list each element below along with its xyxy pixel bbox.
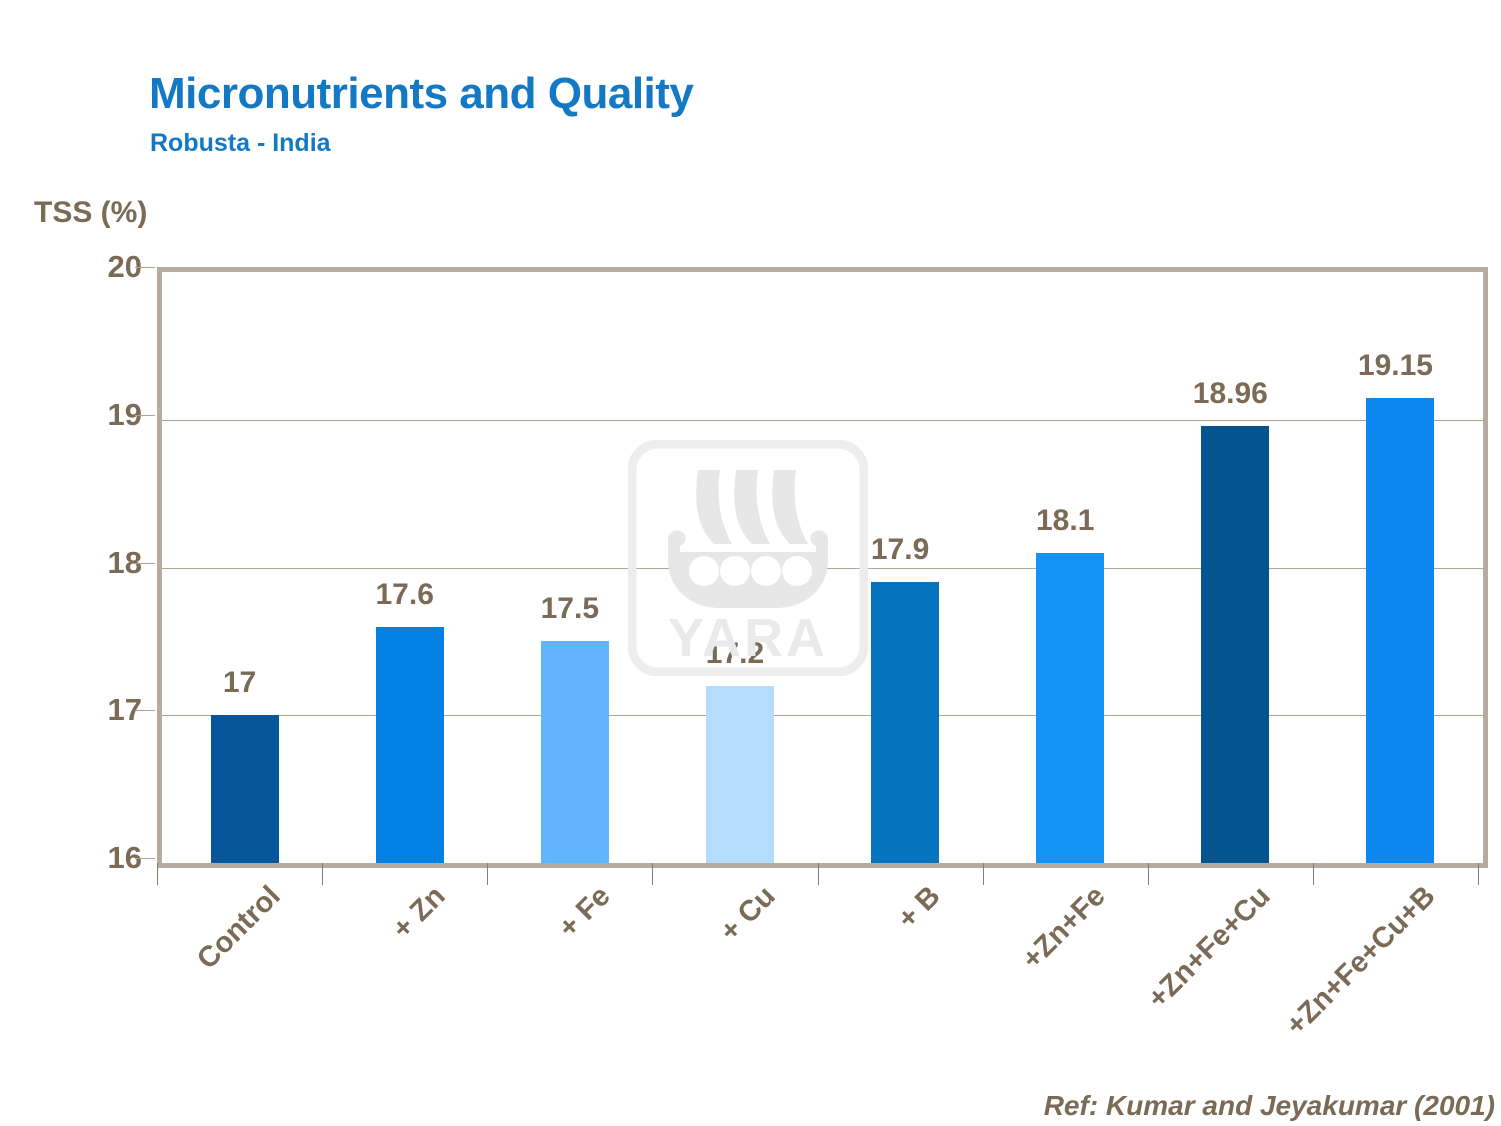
bar-znfecu[interactable]	[1201, 426, 1269, 863]
bar-value-label-3: 17.2	[706, 637, 764, 671]
gridline-18	[162, 568, 1483, 569]
y-tick-mark-18	[135, 563, 155, 564]
x-tick-mark-4	[818, 863, 819, 885]
reference-footer: Ref: Kumar and Jeyakumar (2001)	[1044, 1090, 1495, 1122]
x-tick-mark-5	[983, 863, 984, 885]
bar-control[interactable]	[211, 715, 279, 863]
x-axis-label-5: +Zn+Fe	[1016, 880, 1112, 976]
x-tick-mark-7	[1313, 863, 1314, 885]
bar-fe[interactable]	[541, 641, 609, 863]
bar-value-label-1: 17.6	[375, 578, 433, 612]
plot-inner	[162, 272, 1483, 863]
bar-b[interactable]	[871, 582, 939, 863]
bar-zn[interactable]	[376, 627, 444, 863]
x-axis-label-6: +Zn+Fe+Cu	[1142, 880, 1278, 1016]
y-tick-mark-19	[135, 415, 155, 416]
x-axis-label-4: + B	[892, 880, 948, 936]
x-tick-mark-1	[322, 863, 323, 885]
x-axis-label-1: + Zn	[386, 880, 452, 946]
x-axis-label-7: +Zn+Fe+Cu+B	[1280, 880, 1442, 1042]
x-tick-mark-2	[487, 863, 488, 885]
x-tick-mark-6	[1148, 863, 1149, 885]
bar-value-label-4: 17.9	[871, 533, 929, 567]
bar-cu[interactable]	[706, 686, 774, 863]
x-tick-mark-end	[1478, 863, 1479, 885]
bar-value-label-6: 18.96	[1193, 377, 1268, 411]
gridline-19	[162, 420, 1483, 421]
y-tick-mark-20	[135, 267, 155, 268]
x-axis-label-2: + Fe	[552, 880, 617, 945]
y-axis-title: TSS (%)	[34, 196, 147, 230]
x-tick-mark-3	[652, 863, 653, 885]
bar-znfecub[interactable]	[1366, 398, 1434, 863]
plot-area	[157, 267, 1488, 868]
x-axis-label-0: Control	[191, 880, 287, 976]
bar-znfe[interactable]	[1036, 553, 1104, 863]
bar-value-label-7: 19.15	[1358, 349, 1433, 383]
chart-canvas: Micronutrients and Quality Robusta - Ind…	[0, 0, 1501, 1126]
bar-value-label-2: 17.5	[541, 592, 599, 626]
x-tick-mark-0	[157, 863, 158, 885]
bar-value-label-0: 17	[223, 666, 256, 700]
gridline-17	[162, 715, 1483, 716]
bar-value-label-5: 18.1	[1036, 504, 1094, 538]
y-tick-mark-17	[135, 710, 155, 711]
chart-subtitle: Robusta - India	[150, 129, 331, 158]
chart-title: Micronutrients and Quality	[149, 69, 693, 119]
x-axis-label-3: + Cu	[714, 880, 782, 948]
y-tick-mark-16	[135, 858, 155, 859]
